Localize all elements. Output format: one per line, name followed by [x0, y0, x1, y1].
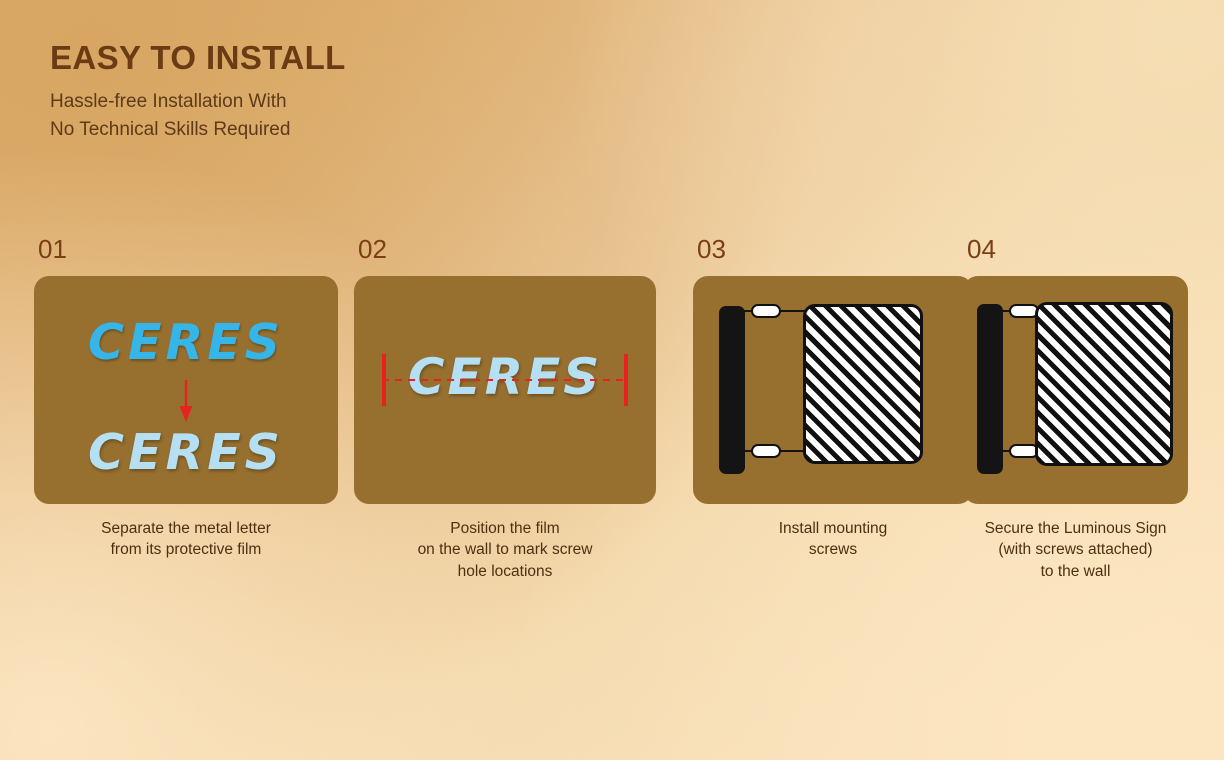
metal-letter-text: CERES	[34, 314, 338, 371]
center-guide-line	[382, 379, 628, 381]
film-text: CERES	[354, 348, 656, 406]
step-03: 03 Install mounting screws	[693, 236, 973, 561]
film-alignment-group: CERES	[354, 346, 656, 426]
page-subtitle: Hassle-free Installation With No Technic…	[50, 88, 346, 143]
step-01: 01 CERES CERES Separate the metal letter…	[34, 236, 338, 561]
step-number-01: 01	[38, 236, 338, 262]
step-caption-04: Secure the Luminous Sign (with screws at…	[963, 518, 1188, 582]
infographic-content: EASY TO INSTALL Hassle-free Installation…	[0, 0, 1224, 760]
protective-film-text: CERES	[34, 424, 338, 481]
wall-surface	[803, 304, 923, 464]
step-caption-01: Separate the metal letter from its prote…	[34, 518, 338, 561]
step-number-03: 03	[697, 236, 973, 262]
page-title: EASY TO INSTALL	[50, 40, 346, 76]
step-caption-02: Position the film on the wall to mark sc…	[354, 518, 656, 582]
screw-head	[751, 304, 781, 318]
wall-surface	[1035, 302, 1173, 466]
sign-letter-body	[977, 304, 1003, 474]
step-04-illustration	[963, 276, 1188, 504]
step-02: 02 CERES Position the film on the wall t…	[354, 236, 656, 582]
step-01-illustration: CERES CERES	[34, 276, 338, 504]
sign-letter-body	[719, 306, 745, 474]
header-block: EASY TO INSTALL Hassle-free Installation…	[50, 40, 346, 143]
step-number-04: 04	[967, 236, 1188, 262]
step-03-illustration	[693, 276, 973, 504]
step-02-illustration: CERES	[354, 276, 656, 504]
step-caption-03: Install mounting screws	[693, 518, 973, 561]
down-arrow-icon	[179, 380, 193, 422]
step-number-02: 02	[358, 236, 656, 262]
screw-head	[751, 444, 781, 458]
step-04: 04 Secure the Luminous Sign (with screws…	[963, 236, 1188, 582]
